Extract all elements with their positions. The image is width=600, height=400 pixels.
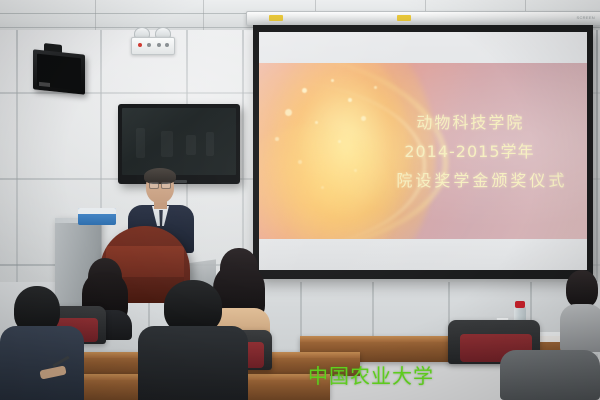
attendee-man-center <box>138 280 248 400</box>
attendee-front-left-writing <box>0 286 84 400</box>
slide-line-1: 动物科技学院 <box>396 109 567 133</box>
emergency-light-icon <box>131 37 175 55</box>
slide-line-2: 2014-2015学年 <box>396 138 567 162</box>
glasses-icon <box>149 182 171 187</box>
slide-line-3: 院设奖学金颁奖仪式 <box>396 167 567 191</box>
watermark-text: 中国农业大学 <box>308 360 434 389</box>
wall-speaker-icon <box>33 49 85 94</box>
slide-title-block: 动物科技学院 2014-2015学年 院设奖学金颁奖仪式 <box>396 109 567 196</box>
presentation-slide: 动物科技学院 2014-2015学年 院设奖学金颁奖仪式 <box>259 63 587 239</box>
conference-room-photo: SCREEN <box>0 0 600 400</box>
attendee-woman-back-right <box>560 270 600 350</box>
roller-brand-text: SCREEN <box>577 15 595 20</box>
blue-storage-box <box>78 208 116 225</box>
attendee-bottom-right <box>500 350 600 400</box>
projection-screen: 动物科技学院 2014-2015学年 院设奖学金颁奖仪式 <box>253 25 593 279</box>
projection-screen-roller: SCREEN <box>246 11 600 26</box>
bottle-cap <box>515 301 525 308</box>
